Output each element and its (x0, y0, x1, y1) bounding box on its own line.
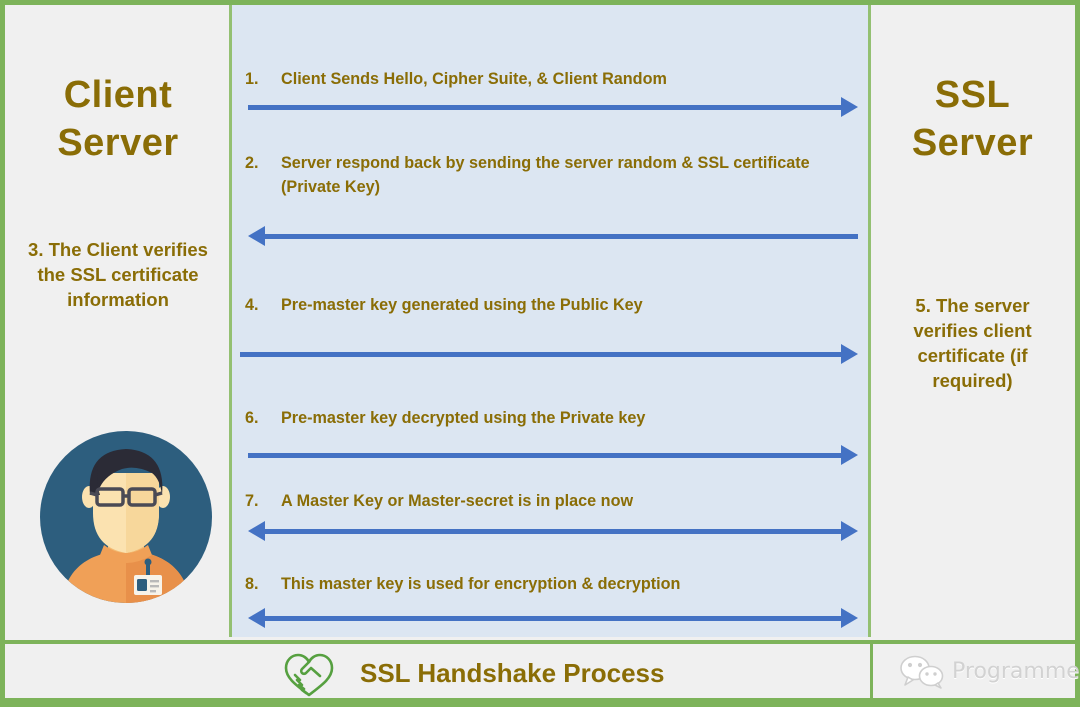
step-6: 6. Pre-master key decrypted using the Pr… (245, 406, 857, 430)
footer-bar: SSL Handshake Process ProgrammerHe (5, 640, 1075, 702)
frame-border-right (1075, 0, 1080, 707)
step-8-number: 8. (245, 572, 281, 596)
step-1-text: Client Sends Hello, Cipher Suite, & Clie… (281, 67, 857, 91)
step-8-text: This master key is used for encryption &… (281, 572, 857, 596)
step-6-arrow-right (248, 443, 858, 467)
step-8-arrow-bidirectional (248, 606, 858, 630)
footer-divider (870, 644, 873, 698)
step-6-text: Pre-master key decrypted using the Priva… (281, 406, 857, 430)
client-verify-note: 3. The Client verifies the SSL certifica… (5, 237, 231, 312)
step-2: 2. Server respond back by sending the se… (245, 151, 857, 199)
step-7-number: 7. (245, 489, 281, 513)
server-title-line1: SSL (870, 71, 1075, 119)
user-avatar-icon (38, 429, 214, 605)
step-4-number: 4. (245, 293, 281, 317)
server-panel-title: SSL Server (870, 71, 1075, 167)
frame-border-bottom (0, 702, 1080, 707)
step-7-text: A Master Key or Master-secret is in plac… (281, 489, 857, 513)
client-title-line2: Server (5, 119, 231, 167)
diagram-canvas: Client Server 3. The Client verifies the… (0, 0, 1080, 707)
client-panel: Client Server 3. The Client verifies the… (5, 5, 231, 637)
client-title-line1: Client (5, 71, 231, 119)
watermark-text: ProgrammerHe (952, 657, 1080, 687)
client-panel-title: Client Server (5, 71, 231, 167)
panel-divider-left (229, 5, 232, 637)
wechat-icon (900, 655, 944, 689)
step-7-arrow-bidirectional (248, 519, 858, 543)
handshake-steps-panel: 1. Client Sends Hello, Cipher Suite, & C… (231, 5, 870, 637)
step-1-arrow-right (248, 95, 858, 119)
step-2-arrow-left (248, 224, 858, 248)
panel-divider-right (868, 5, 871, 637)
step-6-number: 6. (245, 406, 281, 430)
step-7: 7. A Master Key or Master-secret is in p… (245, 489, 857, 513)
step-1-number: 1. (245, 67, 281, 91)
step-2-number: 2. (245, 151, 281, 175)
step-1: 1. Client Sends Hello, Cipher Suite, & C… (245, 67, 857, 91)
handshake-heart-icon (282, 651, 336, 699)
ssl-server-panel: SSL Server 5. The server verifies client… (870, 5, 1075, 637)
step-2-text: Server respond back by sending the serve… (281, 151, 857, 199)
step-8: 8. This master key is used for encryptio… (245, 572, 857, 596)
footer-title: SSL Handshake Process (360, 656, 664, 690)
step-4-arrow-right (240, 342, 858, 366)
server-verify-note: 5. The server verifies client certificat… (870, 293, 1075, 393)
step-4-text: Pre-master key generated using the Publi… (281, 293, 857, 317)
step-4: 4. Pre-master key generated using the Pu… (245, 293, 857, 317)
watermark: ProgrammerHe (900, 655, 1080, 689)
server-title-line2: Server (870, 119, 1075, 167)
